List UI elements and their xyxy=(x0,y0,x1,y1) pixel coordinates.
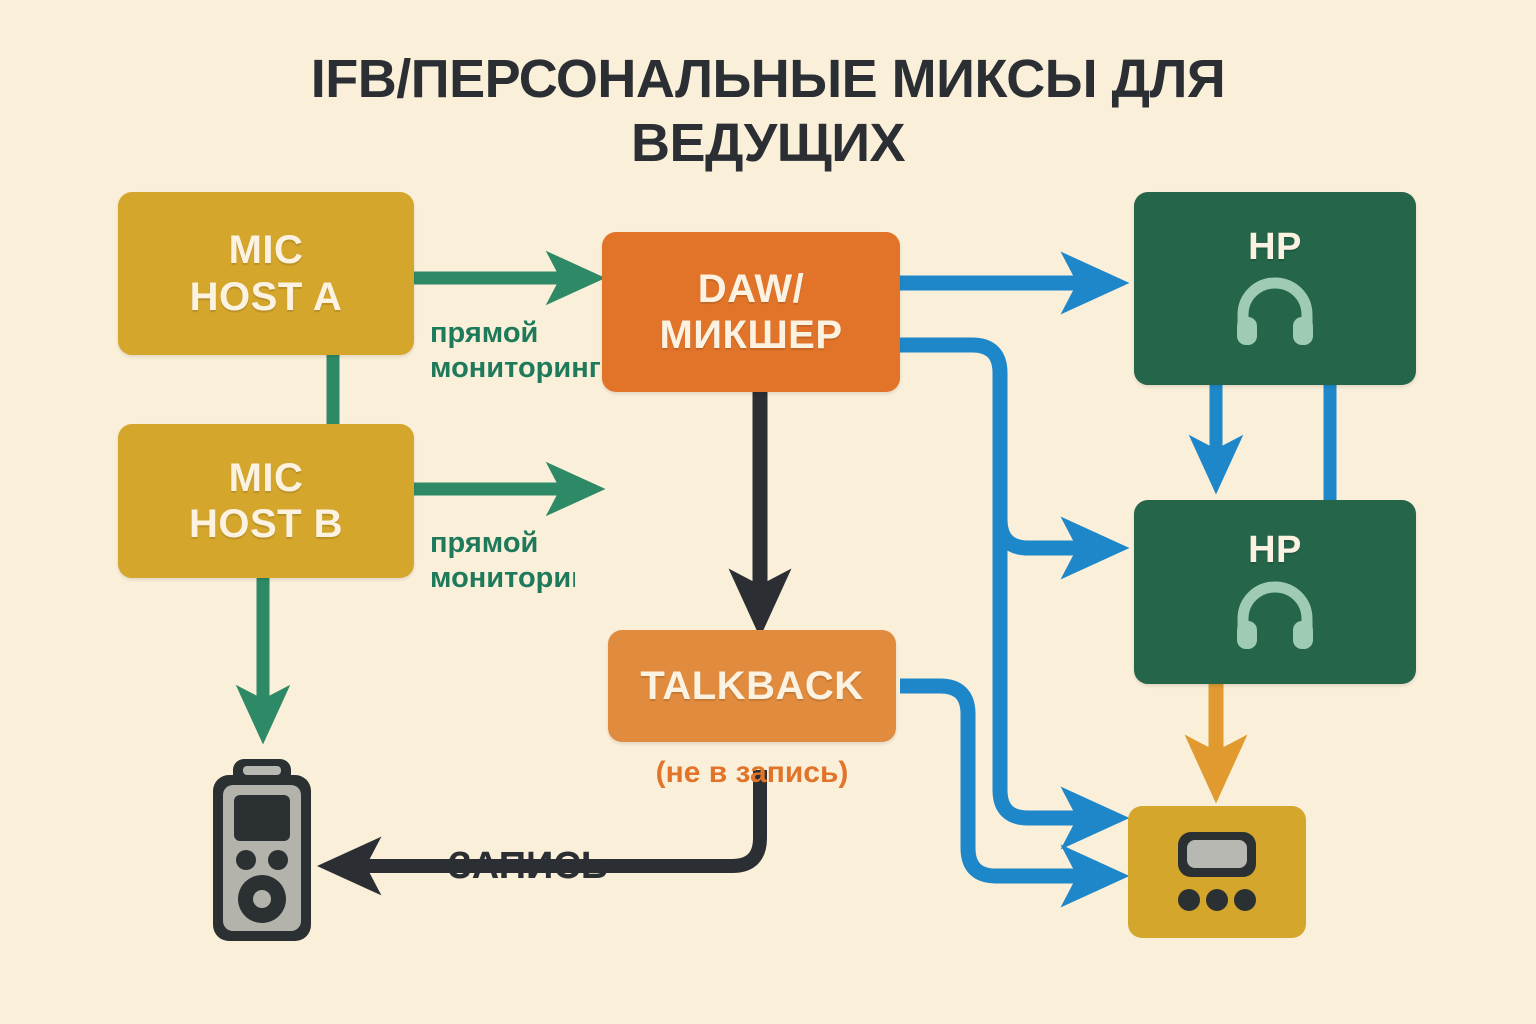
talkback-line1: TALKBACK xyxy=(640,663,863,709)
headphones-icon xyxy=(1233,277,1317,352)
direct-monitor-b-line2: мониторинг xyxy=(430,561,575,596)
edge-label-direct-monitor-a: прямой мониторинг xyxy=(430,316,601,387)
edge-talkback-to-ifb xyxy=(900,686,1092,876)
hp-top-label: HP xyxy=(1248,225,1302,269)
talkback-note: (не в запись) xyxy=(608,756,896,790)
mic-host-b-line2: HOST B xyxy=(189,501,343,547)
mic-host-a-line2: HOST A xyxy=(190,274,343,320)
daw-line2: МИКШЕР xyxy=(659,312,842,358)
direct-monitor-a-line2: мониторинг xyxy=(430,351,601,386)
device-ifb-beltpack[interactable] xyxy=(1126,802,1308,947)
edge-daw-to-ifb xyxy=(1000,373,1092,818)
node-mic-host-b[interactable]: MIC HOST B xyxy=(118,424,414,578)
direct-monitor-a-line1: прямой xyxy=(430,316,601,351)
headphones-icon xyxy=(1233,581,1317,656)
direct-monitor-b-line1: прямой xyxy=(430,526,575,561)
daw-line1: DAW/ xyxy=(698,266,804,312)
node-daw-mixer[interactable]: DAW/ МИКШЕР xyxy=(602,232,900,392)
edge-daw-to-hp-bottom xyxy=(900,345,1092,548)
edge-label-direct-monitor-b-clip: прямой мониторинг xyxy=(430,526,575,608)
diagram-canvas: IFB/ПЕРСОНАЛЬНЫЕ МИКСЫ ДЛЯ ВЕДУЩИХ MIC H… xyxy=(0,0,1536,1024)
node-mic-host-a[interactable]: MIC HOST A xyxy=(118,192,414,355)
device-portable-recorder[interactable] xyxy=(203,757,321,948)
node-hp-bottom[interactable]: HP xyxy=(1134,500,1416,684)
page-title: IFB/ПЕРСОНАЛЬНЫЕ МИКСЫ ДЛЯ ВЕДУЩИХ xyxy=(168,48,1368,175)
hp-bottom-label: HP xyxy=(1248,528,1302,572)
mic-host-a-line1: MIC xyxy=(229,227,304,273)
edge-label-record: ЗАПИСЬ xyxy=(448,843,608,889)
edge-label-direct-monitor-b: прямой мониторинг xyxy=(430,526,575,597)
node-hp-top[interactable]: HP xyxy=(1134,192,1416,385)
node-talkback[interactable]: TALKBACK xyxy=(608,630,896,742)
mic-host-b-line1: MIC xyxy=(229,455,304,501)
